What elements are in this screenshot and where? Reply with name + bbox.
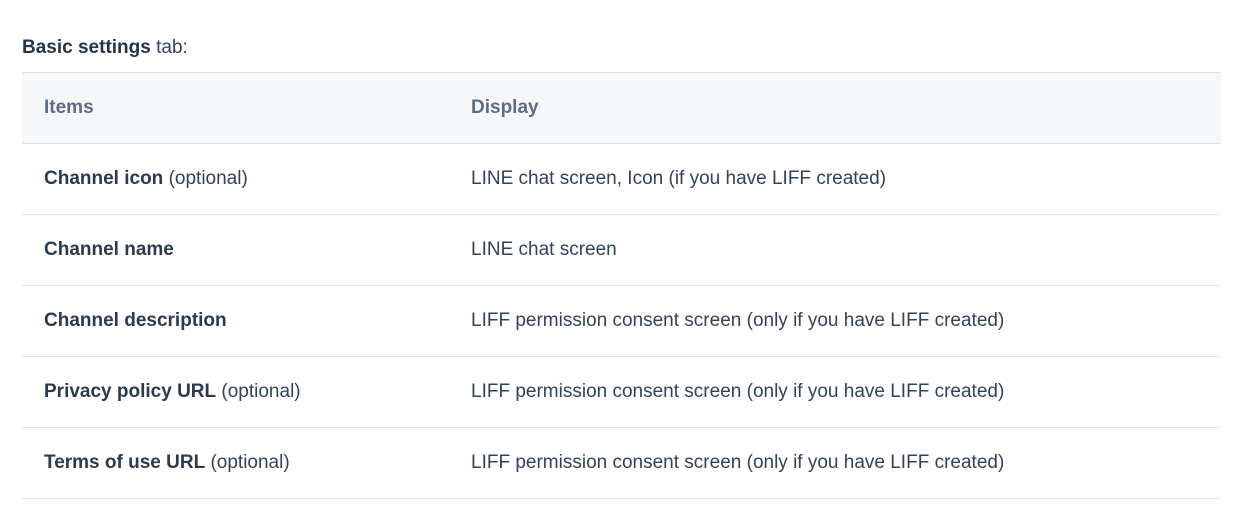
table-row: Terms of use URL (optional) LIFF permiss… — [22, 428, 1221, 499]
basic-settings-table-wrapper: Items Display Channel icon (optional) LI… — [22, 72, 1221, 499]
basic-settings-table: Items Display Channel icon (optional) LI… — [22, 72, 1221, 499]
intro-tab-name: Basic settings — [22, 37, 151, 58]
item-name: Terms of use URL — [44, 452, 205, 473]
intro-suffix: tab: — [151, 37, 188, 58]
item-optional-tag: (optional) — [205, 452, 290, 473]
table-row: Channel name LINE chat screen — [22, 215, 1221, 286]
item-name: Channel icon — [44, 168, 163, 189]
item-name: Privacy policy URL — [44, 381, 216, 402]
cell-item: Channel icon (optional) — [22, 144, 449, 215]
table-row: Privacy policy URL (optional) LIFF permi… — [22, 357, 1221, 428]
cell-display: LIFF permission consent screen (only if … — [449, 428, 1221, 499]
item-name: Channel name — [44, 239, 174, 260]
table-row: Channel icon (optional) LINE chat screen… — [22, 144, 1221, 215]
item-optional-tag: (optional) — [216, 381, 301, 402]
item-name: Channel description — [44, 310, 227, 331]
intro-paragraph: Basic settings tab: — [22, 35, 188, 61]
cell-item: Channel name — [22, 215, 449, 286]
cell-display: LIFF permission consent screen (only if … — [449, 286, 1221, 357]
cell-display: LINE chat screen, Icon (if you have LIFF… — [449, 144, 1221, 215]
column-header-items: Items — [22, 73, 449, 144]
table-row: Channel description LIFF permission cons… — [22, 286, 1221, 357]
cell-item: Privacy policy URL (optional) — [22, 357, 449, 428]
item-optional-tag: (optional) — [163, 168, 248, 189]
table-header-row: Items Display — [22, 73, 1221, 144]
column-header-display: Display — [449, 73, 1221, 144]
cell-display: LINE chat screen — [449, 215, 1221, 286]
cell-display: LIFF permission consent screen (only if … — [449, 357, 1221, 428]
document-page: Basic settings tab: Items Display Channe… — [0, 0, 1248, 522]
table-header: Items Display — [22, 73, 1221, 144]
cell-item: Channel description — [22, 286, 449, 357]
cell-item: Terms of use URL (optional) — [22, 428, 449, 499]
table-body: Channel icon (optional) LINE chat screen… — [22, 144, 1221, 499]
